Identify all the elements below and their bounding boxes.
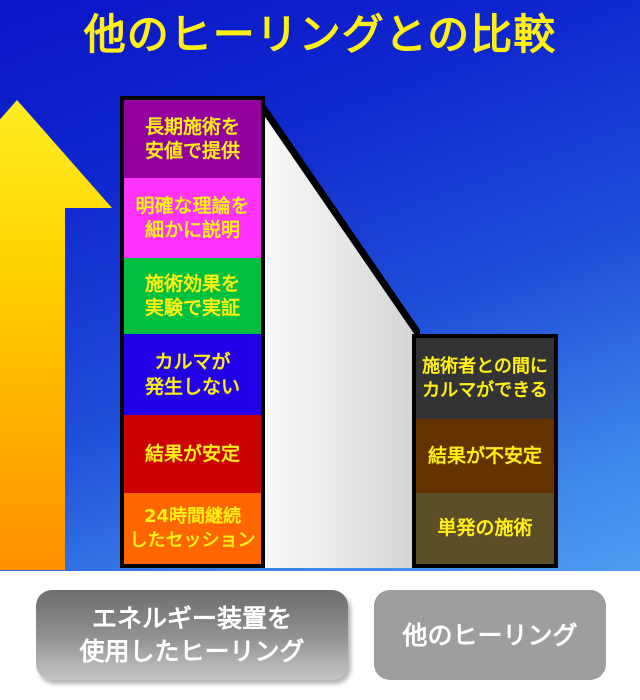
page-title: 他のヒーリングとの比較: [0, 12, 640, 58]
benefit-line: 細かに説明: [145, 218, 240, 242]
benefit-line: 施術効果を: [145, 272, 240, 296]
drawback-line: 単発の施術: [437, 516, 532, 540]
benefit-block-6: 24時間継続 したセッション: [124, 493, 261, 564]
diagonal-wedge-shape: [255, 96, 420, 568]
benefit-block-3: 施術効果を 実験で実証: [124, 258, 261, 334]
benefit-line: 実験で実証: [145, 296, 240, 320]
legend-line: エネルギー装置を: [92, 602, 292, 635]
drawback-line: カルマができる: [422, 379, 548, 402]
legend-line: 使用したヒーリング: [79, 635, 304, 668]
benefit-line: 発生しない: [145, 375, 240, 399]
benefit-line: 長期施術を: [145, 115, 240, 139]
drawback-block-3: 単発の施術: [416, 493, 554, 564]
other-healing-column: 施術者との間に カルマができる 結果が不安定 単発の施術: [412, 334, 558, 568]
benefit-line: 結果が安定: [145, 442, 240, 466]
benefit-block-5: 結果が安定: [124, 415, 261, 493]
benefit-line: 明確な理論を: [135, 194, 249, 218]
benefit-block-4: カルマが 発生しない: [124, 334, 261, 415]
drawback-block-2: 結果が不安定: [416, 419, 554, 493]
benefit-line: 24時間継続: [144, 505, 241, 528]
legend-bar: エネルギー装置を 使用したヒーリング 他のヒーリング: [0, 571, 640, 700]
up-arrow-icon: [0, 100, 112, 570]
benefit-line: カルマが: [154, 350, 230, 374]
drawback-block-1: 施術者との間に カルマができる: [416, 338, 554, 419]
legend-line: 他のヒーリング: [402, 619, 577, 652]
benefit-block-1: 長期施術を 安値で提供: [124, 100, 261, 178]
benefit-block-2: 明確な理論を 細かに説明: [124, 178, 261, 258]
legend-other-healing[interactable]: 他のヒーリング: [374, 590, 606, 680]
drawback-line: 施術者との間に: [422, 355, 548, 378]
benefit-line: 安値で提供: [145, 139, 240, 163]
legend-energy-device-healing[interactable]: エネルギー装置を 使用したヒーリング: [36, 590, 348, 680]
energy-device-healing-column: 長期施術を 安値で提供 明確な理論を 細かに説明 施術効果を 実験で実証 カルマ…: [120, 96, 265, 568]
benefit-line: したセッション: [130, 529, 256, 552]
drawback-line: 結果が不安定: [428, 444, 542, 468]
infographic-canvas: 長期施術を 安値で提供 明確な理論を 細かに説明 施術効果を 実験で実証 カルマ…: [0, 0, 640, 700]
